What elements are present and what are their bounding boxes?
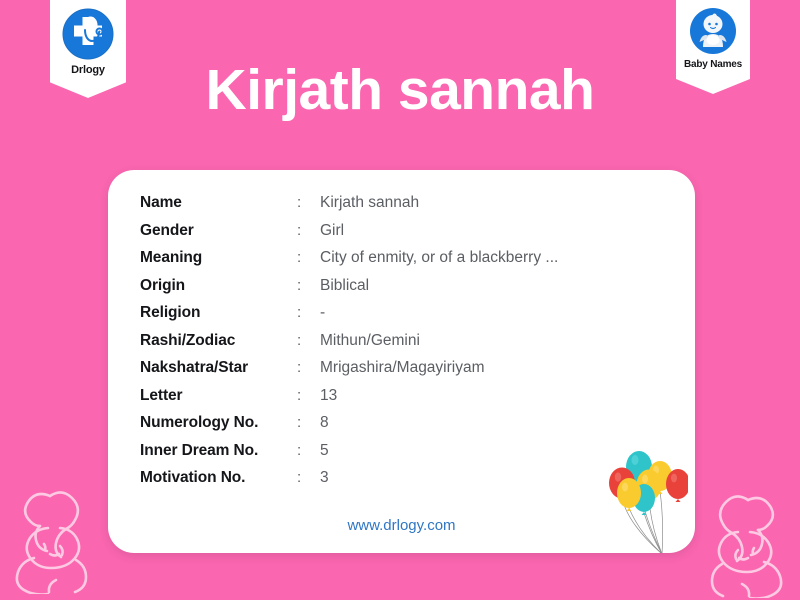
row-value: Girl xyxy=(320,222,344,240)
row-separator: : xyxy=(297,249,320,266)
name-details-table: Name : Kirjath sannah Gender : Girl Mean… xyxy=(140,194,558,497)
table-row: Motivation No. : 3 xyxy=(140,469,558,497)
page-title: Kirjath sannah xyxy=(0,58,800,124)
row-value: City of enmity, or of a blackberry ... xyxy=(320,249,558,267)
row-label: Name xyxy=(140,194,297,212)
table-row: Religion : - xyxy=(140,304,558,332)
drlogy-medical-cross-stethoscope-icon xyxy=(62,8,114,60)
row-label: Gender xyxy=(140,222,297,240)
website-link[interactable]: www.drlogy.com xyxy=(108,517,695,534)
row-label: Rashi/Zodiac xyxy=(140,332,297,350)
row-separator: : xyxy=(297,359,320,376)
row-label: Religion xyxy=(140,304,297,322)
table-row: Meaning : City of enmity, or of a blackb… xyxy=(140,249,558,277)
row-separator: : xyxy=(297,304,320,321)
row-value: - xyxy=(320,304,325,322)
row-separator: : xyxy=(297,387,320,404)
row-label: Letter xyxy=(140,387,297,405)
table-row: Nakshatra/Star : Mrigashira/Magayiriyam xyxy=(140,359,558,387)
table-row: Rashi/Zodiac : Mithun/Gemini xyxy=(140,332,558,360)
row-label: Origin xyxy=(140,277,297,295)
row-value: 5 xyxy=(320,442,329,460)
table-row: Letter : 13 xyxy=(140,387,558,415)
row-value: Mithun/Gemini xyxy=(320,332,420,350)
baby-avatar-icon xyxy=(689,7,737,55)
mother-and-baby-icon xyxy=(4,468,104,594)
row-value: Biblical xyxy=(320,277,369,295)
table-row: Origin : Biblical xyxy=(140,277,558,305)
table-row: Name : Kirjath sannah xyxy=(140,194,558,222)
row-separator: : xyxy=(297,469,320,486)
row-label: Numerology No. xyxy=(140,414,297,432)
row-value: 13 xyxy=(320,387,337,405)
row-value: Mrigashira/Magayiriyam xyxy=(320,359,485,377)
row-separator: : xyxy=(297,332,320,349)
row-label: Nakshatra/Star xyxy=(140,359,297,377)
row-separator: : xyxy=(297,194,320,211)
row-separator: : xyxy=(297,414,320,431)
mother-and-baby-icon xyxy=(694,472,794,598)
name-details-card: Name : Kirjath sannah Gender : Girl Mean… xyxy=(108,170,695,553)
row-label: Meaning xyxy=(140,249,297,267)
row-label: Inner Dream No. xyxy=(140,442,297,460)
row-value: 8 xyxy=(320,414,329,432)
table-row: Inner Dream No. : 5 xyxy=(140,442,558,470)
row-separator: : xyxy=(297,277,320,294)
row-label: Motivation No. xyxy=(140,469,297,487)
row-separator: : xyxy=(297,442,320,459)
table-row: Gender : Girl xyxy=(140,222,558,250)
row-separator: : xyxy=(297,222,320,239)
row-value: Kirjath sannah xyxy=(320,194,419,212)
balloons-icon xyxy=(508,442,688,553)
table-row: Numerology No. : 8 xyxy=(140,414,558,442)
row-value: 3 xyxy=(320,469,329,487)
